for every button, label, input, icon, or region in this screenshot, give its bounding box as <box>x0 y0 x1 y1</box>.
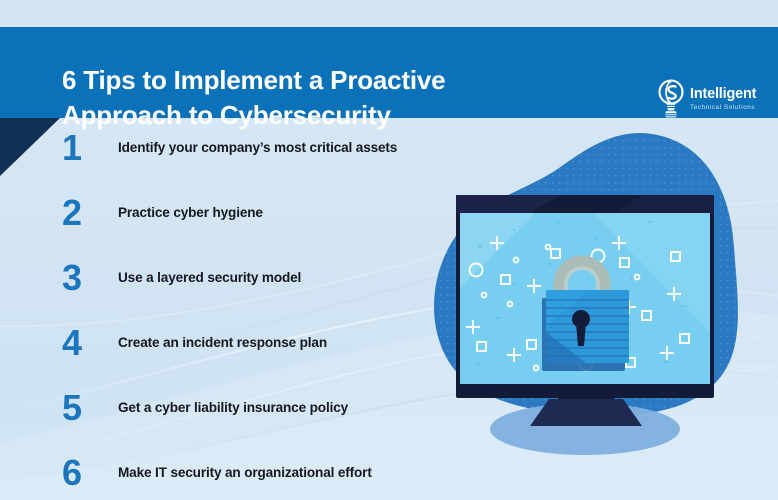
tip-number: 4 <box>62 325 118 361</box>
tip-number: 2 <box>62 195 118 231</box>
tip-label: Identify your company’s most critical as… <box>118 140 397 156</box>
tip-label: Practice cyber hygiene <box>118 205 263 221</box>
logo-tagline: Technical Solutions <box>690 105 756 111</box>
company-logo: Intelligent Technical Solutions <box>656 75 766 123</box>
list-item: 5 Get a cyber liability insurance policy <box>62 386 348 430</box>
tip-number: 5 <box>62 390 118 426</box>
lightbulb-globe-icon <box>656 78 686 120</box>
monitor <box>456 195 714 398</box>
infographic-canvas: 6 Tips to Implement a Proactive Approach… <box>0 0 778 500</box>
list-item: 3 Use a layered security model <box>62 256 301 300</box>
list-item: 2 Practice cyber hygiene <box>62 191 263 235</box>
tip-number: 3 <box>62 260 118 296</box>
tip-label: Use a layered security model <box>118 270 301 286</box>
list-item: 4 Create an incident response plan <box>62 321 327 365</box>
logo-text-block: Intelligent Technical Solutions <box>690 87 756 111</box>
page-title-line-1: 6 Tips to Implement a Proactive <box>62 63 622 98</box>
tip-label: Make IT security an organizational effor… <box>118 465 372 481</box>
cybersecurity-illustration <box>418 118 778 500</box>
tip-label: Create an incident response plan <box>118 335 327 351</box>
top-strip <box>0 0 778 27</box>
list-item: 6 Make IT security an organizational eff… <box>62 451 372 495</box>
tip-number: 1 <box>62 130 118 166</box>
tip-label: Get a cyber liability insurance policy <box>118 400 348 416</box>
logo-company-name: Intelligent <box>690 87 756 102</box>
header-band: 6 Tips to Implement a Proactive Approach… <box>0 27 778 118</box>
list-item: 1 Identify your company’s most critical … <box>62 126 397 170</box>
tip-number: 6 <box>62 455 118 491</box>
tips-list: 1 Identify your company’s most critical … <box>0 118 440 500</box>
